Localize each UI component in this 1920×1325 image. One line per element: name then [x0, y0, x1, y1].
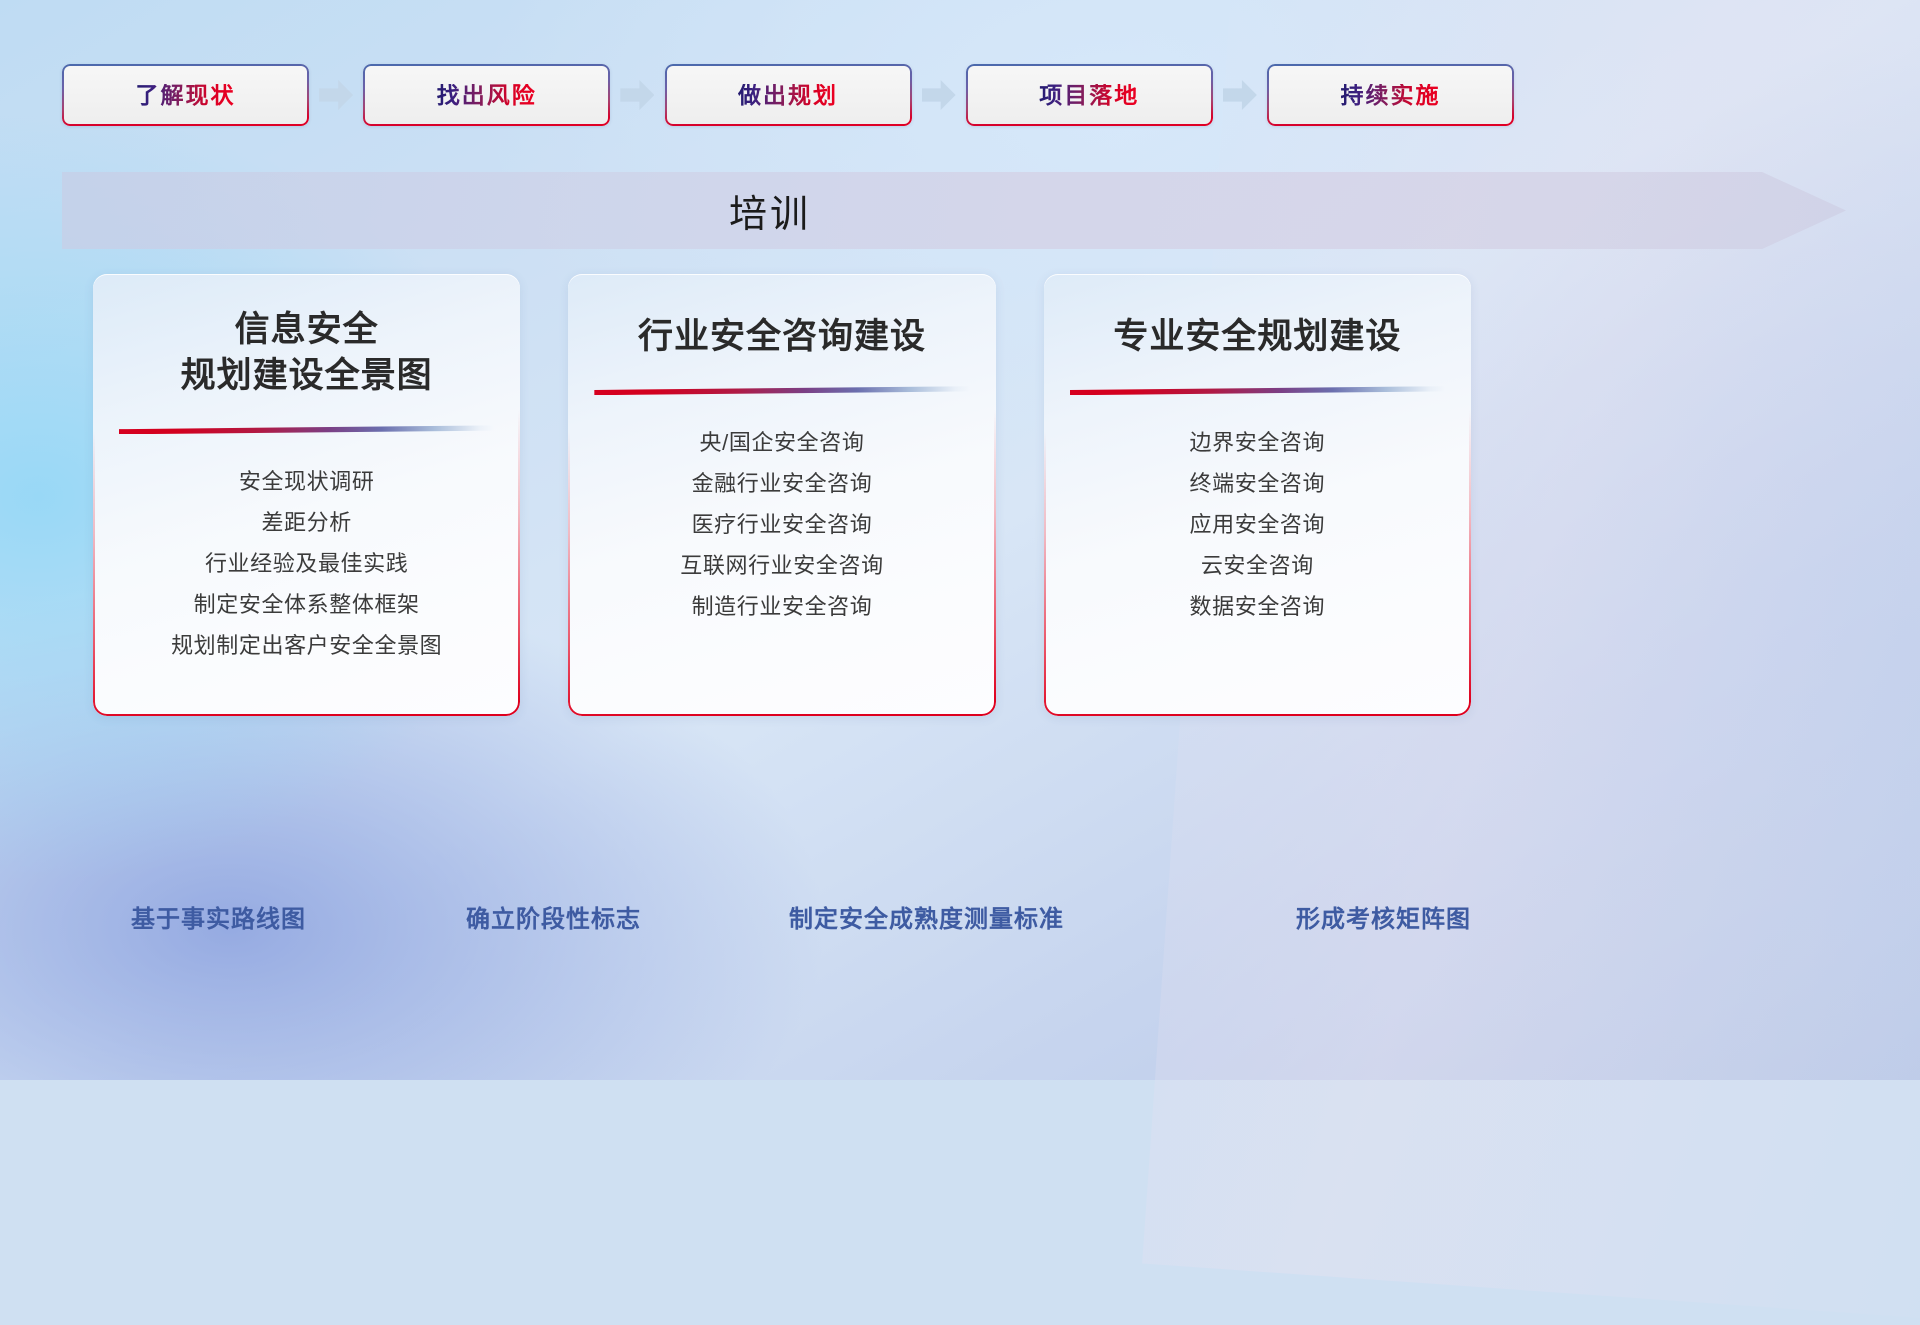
list-item: 应用安全咨询 [1190, 504, 1326, 545]
list-item: 央/国企安全咨询 [700, 422, 865, 463]
flow-step-5[interactable]: 持续实施 [1267, 64, 1514, 126]
card-2-divider [590, 378, 973, 404]
list-item: 终端安全咨询 [1190, 463, 1326, 504]
flow-step-2[interactable]: 找出风险 [363, 64, 610, 126]
flow-step-4-label: 项目落地 [1039, 84, 1139, 107]
process-flow-row: 了解现状 找出风险 做出规划 项目落地 持续实施 [62, 62, 1514, 128]
list-item: 互联网行业安全咨询 [680, 545, 883, 586]
flow-step-3[interactable]: 做出规划 [665, 64, 912, 126]
card-3-divider [1066, 378, 1449, 404]
card-2-list: 央/国企安全咨询 金融行业安全咨询 医疗行业安全咨询 互联网行业安全咨询 制造行… [590, 422, 973, 627]
list-item: 云安全咨询 [1201, 545, 1314, 586]
flow-step-2-label: 找出风险 [437, 84, 537, 107]
arrow-right-icon [1223, 80, 1257, 110]
card-industry-security-consulting[interactable]: 行业安全咨询建设 央/国企安全咨询 金融行业安全咨询 医疗行业安全咨询 互联网行… [568, 274, 995, 716]
list-item: 规划制定出客户安全全景图 [171, 625, 442, 666]
list-item: 边界安全咨询 [1190, 422, 1326, 463]
card-1-divider-line [119, 425, 494, 434]
caption-roadmap: 基于事实路线图 [131, 898, 306, 942]
card-3-divider-line [1070, 386, 1445, 395]
list-item: 安全现状调研 [239, 461, 375, 502]
list-item: 行业经验及最佳实践 [205, 543, 408, 584]
flow-arrow-2 [610, 78, 664, 112]
flow-arrow-1 [309, 78, 363, 112]
caption-milestones: 确立阶段性标志 [466, 898, 641, 942]
arrow-right-icon [319, 80, 353, 110]
list-item: 金融行业安全咨询 [692, 463, 873, 504]
list-item: 制造行业安全咨询 [692, 586, 873, 627]
card-2-divider-line [594, 386, 969, 395]
card-3-title: 专业安全规划建设 [1113, 314, 1401, 360]
flow-arrow-4 [1213, 78, 1267, 112]
card-1-divider [115, 417, 498, 443]
service-cards: 信息安全 规划建设全景图 安全现状调研 差距分析 行业经验及最佳实践 制定安全体… [93, 274, 1471, 716]
training-banner-title: 培训 [0, 172, 1540, 249]
outcome-captions: 基于事实路线图 确立阶段性标志 制定安全成熟度测量标准 形成考核矩阵图 [0, 898, 1920, 942]
caption-assessment-matrix: 形成考核矩阵图 [1296, 898, 1471, 942]
caption-maturity-standard: 制定安全成熟度测量标准 [789, 898, 1064, 942]
card-1-title: 信息安全 规划建设全景图 [181, 307, 433, 399]
card-1-list: 安全现状调研 差距分析 行业经验及最佳实践 制定安全体系整体框架 规划制定出客户… [115, 461, 498, 666]
flow-step-3-label: 做出规划 [738, 84, 838, 107]
card-3-list: 边界安全咨询 终端安全咨询 应用安全咨询 云安全咨询 数据安全咨询 [1066, 422, 1449, 627]
flow-step-1-label: 了解现状 [136, 84, 236, 107]
flow-step-4[interactable]: 项目落地 [966, 64, 1213, 126]
card-professional-security-planning[interactable]: 专业安全规划建设 边界安全咨询 终端安全咨询 应用安全咨询 云安全咨询 数据安全… [1044, 274, 1471, 716]
list-item: 制定安全体系整体框架 [194, 584, 420, 625]
arrow-right-icon [620, 80, 654, 110]
card-information-security-blueprint[interactable]: 信息安全 规划建设全景图 安全现状调研 差距分析 行业经验及最佳实践 制定安全体… [93, 274, 520, 716]
list-item: 差距分析 [261, 502, 351, 543]
list-item: 数据安全咨询 [1190, 586, 1326, 627]
card-2-title: 行业安全咨询建设 [638, 314, 926, 360]
flow-step-5-label: 持续实施 [1341, 84, 1441, 107]
arrow-right-icon [922, 80, 956, 110]
flow-step-1[interactable]: 了解现状 [62, 64, 309, 126]
flow-arrow-3 [912, 78, 966, 112]
list-item: 医疗行业安全咨询 [692, 504, 873, 545]
